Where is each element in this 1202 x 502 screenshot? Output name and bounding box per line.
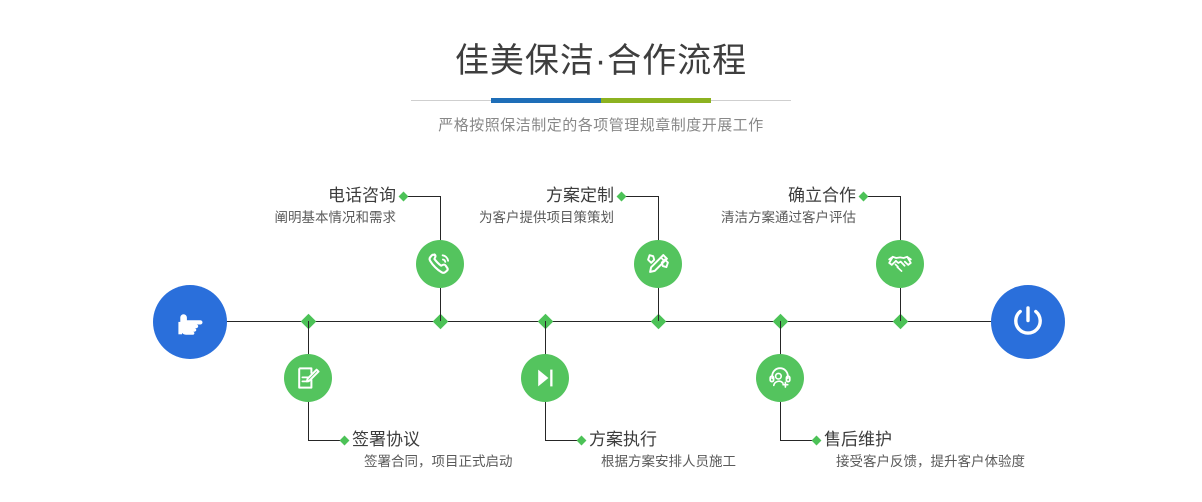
play-execute-icon — [532, 365, 558, 391]
step-icon-5 — [876, 240, 924, 288]
process-flow-infographic: 佳美保洁·合作流程 严格按照保洁制定的各项管理规章制度开展工作 — [0, 0, 1202, 502]
timeline-start-node — [153, 285, 227, 359]
customer-support-add-icon — [767, 365, 793, 391]
step-desc-4: 根据方案安排人员施工 — [589, 452, 736, 472]
step-label-5: 确立合作 清洁方案通过客户评估 — [660, 184, 856, 228]
step-icon-3 — [634, 240, 682, 288]
power-icon — [1007, 301, 1049, 343]
step-title-1: 电话咨询 — [160, 184, 396, 208]
label-node-6 — [812, 435, 822, 445]
connector-horizontal-5 — [864, 196, 900, 197]
step-label-4: 方案执行 根据方案安排人员施工 — [589, 428, 736, 472]
label-node-2 — [340, 435, 350, 445]
timeline-end-node — [991, 285, 1065, 359]
step-label-2: 签署协议 签署合同，项目正式启动 — [352, 428, 513, 472]
step-desc-6: 接受客户反馈，提升客户体验度 — [824, 452, 1025, 472]
label-node-4 — [577, 435, 587, 445]
step-label-6: 售后维护 接受客户反馈，提升客户体验度 — [824, 428, 1025, 472]
step-title-6: 售后维护 — [824, 428, 1025, 452]
step-title-4: 方案执行 — [589, 428, 736, 452]
label-node-5 — [859, 191, 869, 201]
handshake-icon — [886, 250, 914, 278]
step-desc-2: 签署合同，项目正式启动 — [352, 452, 513, 472]
pointing-hand-icon — [170, 302, 210, 342]
step-icon-1 — [416, 240, 464, 288]
step-desc-1: 阐明基本情况和需求 — [160, 208, 396, 228]
step-label-1: 电话咨询 阐明基本情况和需求 — [160, 184, 396, 228]
step-icon-4 — [521, 354, 569, 402]
label-node-3 — [617, 191, 627, 201]
step-icon-2 — [284, 354, 332, 402]
step-title-3: 方案定制 — [400, 184, 614, 208]
step-title-5: 确立合作 — [660, 184, 856, 208]
step-icon-6 — [756, 354, 804, 402]
document-edit-icon — [295, 365, 321, 391]
step-title-2: 签署协议 — [352, 428, 513, 452]
timeline: 电话咨询 阐明基本情况和需求 签署协议 签署合同，项目正式启动 — [0, 0, 1202, 502]
pencil-design-icon — [644, 250, 672, 278]
step-label-3: 方案定制 为客户提供项目策策划 — [400, 184, 614, 228]
step-desc-5: 清洁方案通过客户评估 — [660, 208, 856, 228]
step-desc-3: 为客户提供项目策策划 — [400, 208, 614, 228]
connector-horizontal-3 — [622, 196, 658, 197]
phone-ringing-icon — [426, 250, 454, 278]
